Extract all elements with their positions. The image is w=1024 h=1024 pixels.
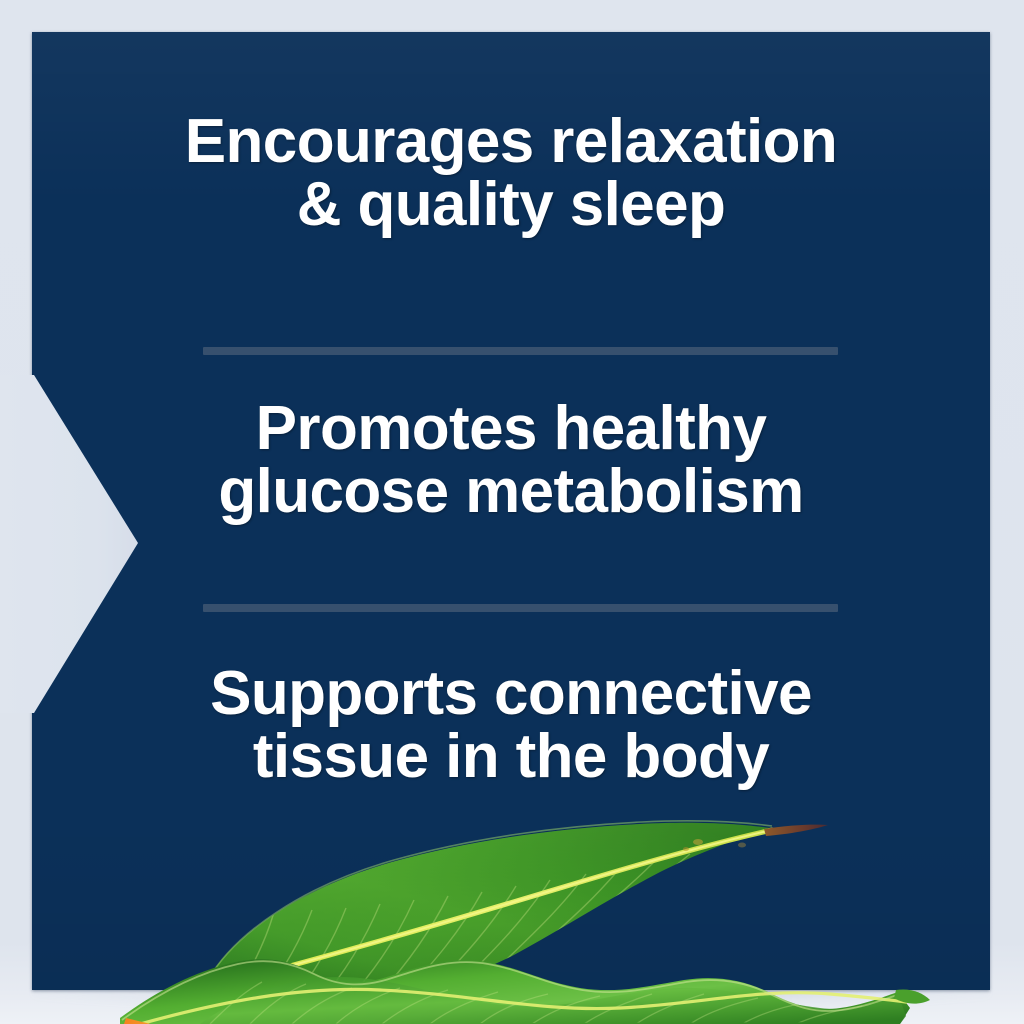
benefit-line: glucose metabolism [32, 460, 990, 523]
section-divider [203, 347, 838, 355]
section-divider [203, 604, 838, 612]
benefits-panel-screenshot: Encourages relaxation & quality sleep Pr… [0, 0, 1024, 1024]
benefit-item-connective-tissue: Supports connective tissue in the body [32, 662, 990, 788]
benefits-card: Encourages relaxation & quality sleep Pr… [32, 32, 990, 990]
benefit-list: Encourages relaxation & quality sleep Pr… [32, 32, 990, 990]
benefit-item-relaxation-sleep: Encourages relaxation & quality sleep [32, 110, 990, 236]
panel-drop-shadow [32, 988, 990, 1014]
benefit-line: Encourages relaxation [32, 110, 990, 173]
benefit-line: tissue in the body [32, 725, 990, 788]
benefit-line: Promotes healthy [32, 397, 990, 460]
benefit-item-glucose-metabolism: Promotes healthy glucose metabolism [32, 397, 990, 523]
leaf-tip-right [894, 989, 930, 1003]
benefit-line: Supports connective [32, 662, 990, 725]
benefit-line: & quality sleep [32, 173, 990, 236]
